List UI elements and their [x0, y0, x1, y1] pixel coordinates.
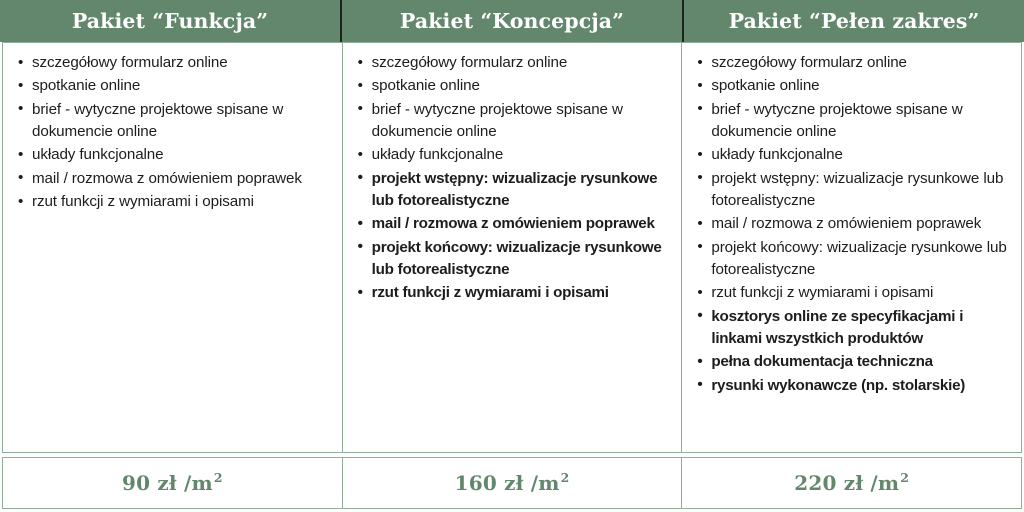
feature-item: szczegółowy formularz online	[17, 52, 332, 74]
feature-item: mail / rozmowa z omówieniem poprawek	[357, 213, 672, 235]
price-value: 160 zł /m2	[455, 471, 570, 495]
feature-item: rysunki wykonawcze (np. stolarskie)	[696, 375, 1011, 397]
price-amount: 90 zł /m	[122, 471, 213, 495]
price-value: 90 zł /m2	[122, 471, 223, 495]
package-header-row: Pakiet “Funkcja” Pakiet “Koncepcja” Paki…	[0, 0, 1024, 42]
feature-item: brief - wytyczne projektowe spisane w do…	[696, 99, 1011, 144]
feature-item: pełna dokumentacja techniczna	[696, 351, 1011, 373]
price-amount: 160 zł /m	[455, 471, 560, 495]
features-cell-pelen-zakres: szczegółowy formularz onlinespotkanie on…	[681, 43, 1021, 452]
feature-item: spotkanie online	[17, 75, 332, 97]
price-cell-koncepcja: 160 zł /m2	[342, 458, 682, 508]
feature-item: projekt końcowy: wizualizacje rysunkowe …	[357, 237, 672, 282]
feature-list: szczegółowy formularz onlinespotkanie on…	[17, 52, 332, 213]
feature-item: spotkanie online	[696, 75, 1011, 97]
feature-list: szczegółowy formularz onlinespotkanie on…	[696, 52, 1011, 397]
price-unit-exponent: 2	[214, 470, 223, 485]
feature-item: spotkanie online	[357, 75, 672, 97]
price-unit-exponent: 2	[900, 470, 909, 485]
package-header-pelen-zakres: Pakiet “Pełen zakres”	[682, 0, 1024, 42]
package-header-funkcja: Pakiet “Funkcja”	[0, 0, 340, 42]
feature-item: rzut funkcji z wymiarami i opisami	[696, 282, 1011, 304]
features-cell-funkcja: szczegółowy formularz onlinespotkanie on…	[3, 43, 342, 452]
feature-item: mail / rozmowa z omówieniem poprawek	[696, 213, 1011, 235]
feature-item: szczegółowy formularz online	[696, 52, 1011, 74]
price-value: 220 zł /m2	[794, 471, 909, 495]
feature-item: mail / rozmowa z omówieniem poprawek	[17, 168, 332, 190]
feature-item: kosztorys online ze specyfikacjami i lin…	[696, 306, 1011, 351]
feature-item: rzut funkcji z wymiarami i opisami	[17, 191, 332, 213]
pricing-comparison-table: Pakiet “Funkcja” Pakiet “Koncepcja” Paki…	[0, 0, 1024, 512]
feature-item: projekt końcowy: wizualizacje rysunkowe …	[696, 237, 1011, 282]
package-header-koncepcja: Pakiet “Koncepcja”	[340, 0, 682, 42]
price-cell-funkcja: 90 zł /m2	[3, 458, 342, 508]
feature-item: projekt wstępny: wizualizacje rysunkowe …	[357, 168, 672, 213]
feature-item: projekt wstępny: wizualizacje rysunkowe …	[696, 168, 1011, 213]
price-cell-pelen-zakres: 220 zł /m2	[681, 458, 1021, 508]
price-amount: 220 zł /m	[794, 471, 899, 495]
feature-item: rzut funkcji z wymiarami i opisami	[357, 282, 672, 304]
package-price-row: 90 zł /m2 160 zł /m2 220 zł /m2	[2, 457, 1022, 509]
price-unit-exponent: 2	[561, 470, 570, 485]
feature-item: brief - wytyczne projektowe spisane w do…	[17, 99, 332, 144]
package-features-row: szczegółowy formularz onlinespotkanie on…	[2, 42, 1022, 453]
feature-item: układy funkcjonalne	[357, 144, 672, 166]
package-title: Pakiet “Pełen zakres”	[729, 11, 980, 32]
feature-item: układy funkcjonalne	[17, 144, 332, 166]
feature-item: szczegółowy formularz online	[357, 52, 672, 74]
package-title: Pakiet “Koncepcja”	[400, 11, 624, 32]
package-title: Pakiet “Funkcja”	[72, 11, 268, 32]
feature-item: układy funkcjonalne	[696, 144, 1011, 166]
feature-list: szczegółowy formularz onlinespotkanie on…	[357, 52, 672, 305]
features-cell-koncepcja: szczegółowy formularz onlinespotkanie on…	[342, 43, 682, 452]
feature-item: brief - wytyczne projektowe spisane w do…	[357, 99, 672, 144]
